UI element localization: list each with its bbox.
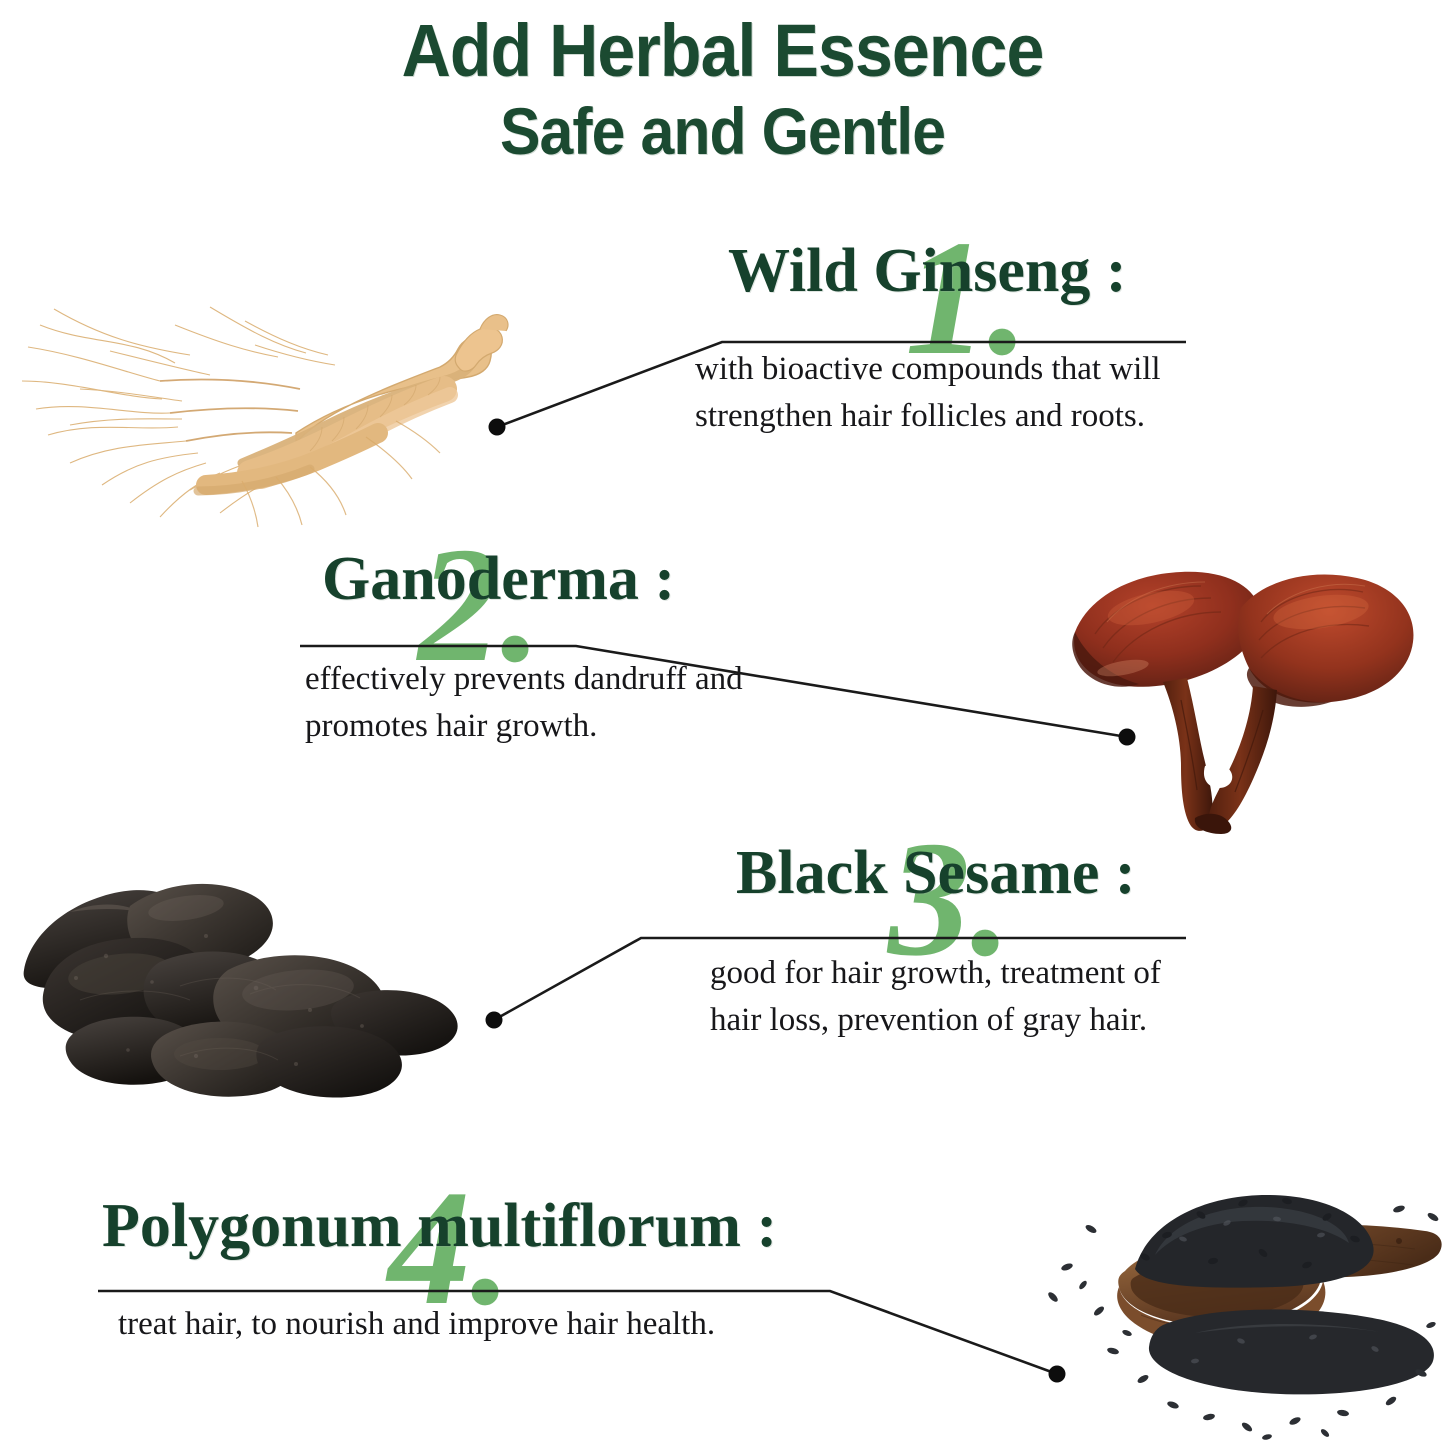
section-heading-1: Wild Ginseng : (690, 240, 1210, 302)
section-body-3: good for hair growth, treatment of hair … (700, 950, 1220, 1044)
ganoderma-reishi-mushroom-photo (1055, 550, 1430, 835)
section-ganoderma: 2. Ganoderma : effectively prevents dand… (300, 548, 820, 750)
infographic-canvas: Add Herbal Essence Safe and Gentle (0, 0, 1445, 1445)
black-sesame-seeds-scoop-photo (995, 1165, 1445, 1445)
section-black-sesame: 3. Black Sesame : good for hair growth, … (700, 842, 1220, 1044)
section-heading-3: Black Sesame : (700, 842, 1220, 904)
section-body-1: with bioactive compounds that will stren… (690, 346, 1210, 440)
heading-wrap-2: 2. Ganoderma : (300, 548, 820, 610)
section-body-4: treat hair, to nourish and improve hair … (96, 1301, 896, 1348)
section-heading-2: Ganoderma : (300, 548, 820, 610)
polygonum-dried-root-slices-photo (10, 850, 480, 1110)
heading-wrap-4: 4. Polygonum multiflorum : (96, 1195, 896, 1257)
heading-wrap-3: 3. Black Sesame : (700, 842, 1220, 904)
section-wild-ginseng: 1. Wild Ginseng : with bioactive compoun… (690, 240, 1210, 440)
title-line-1: Add Herbal Essence (58, 14, 1387, 88)
section-body-2: effectively prevents dandruff and promot… (300, 656, 820, 750)
section-polygonum-multiflorum: 4. Polygonum multiflorum : treat hair, t… (96, 1195, 896, 1348)
page-title: Add Herbal Essence Safe and Gentle (0, 14, 1445, 164)
title-line-2: Safe and Gentle (58, 98, 1387, 164)
heading-wrap-1: 1. Wild Ginseng : (690, 240, 1210, 302)
wild-ginseng-root-photo (10, 285, 510, 530)
section-heading-4: Polygonum multiflorum : (96, 1195, 896, 1257)
